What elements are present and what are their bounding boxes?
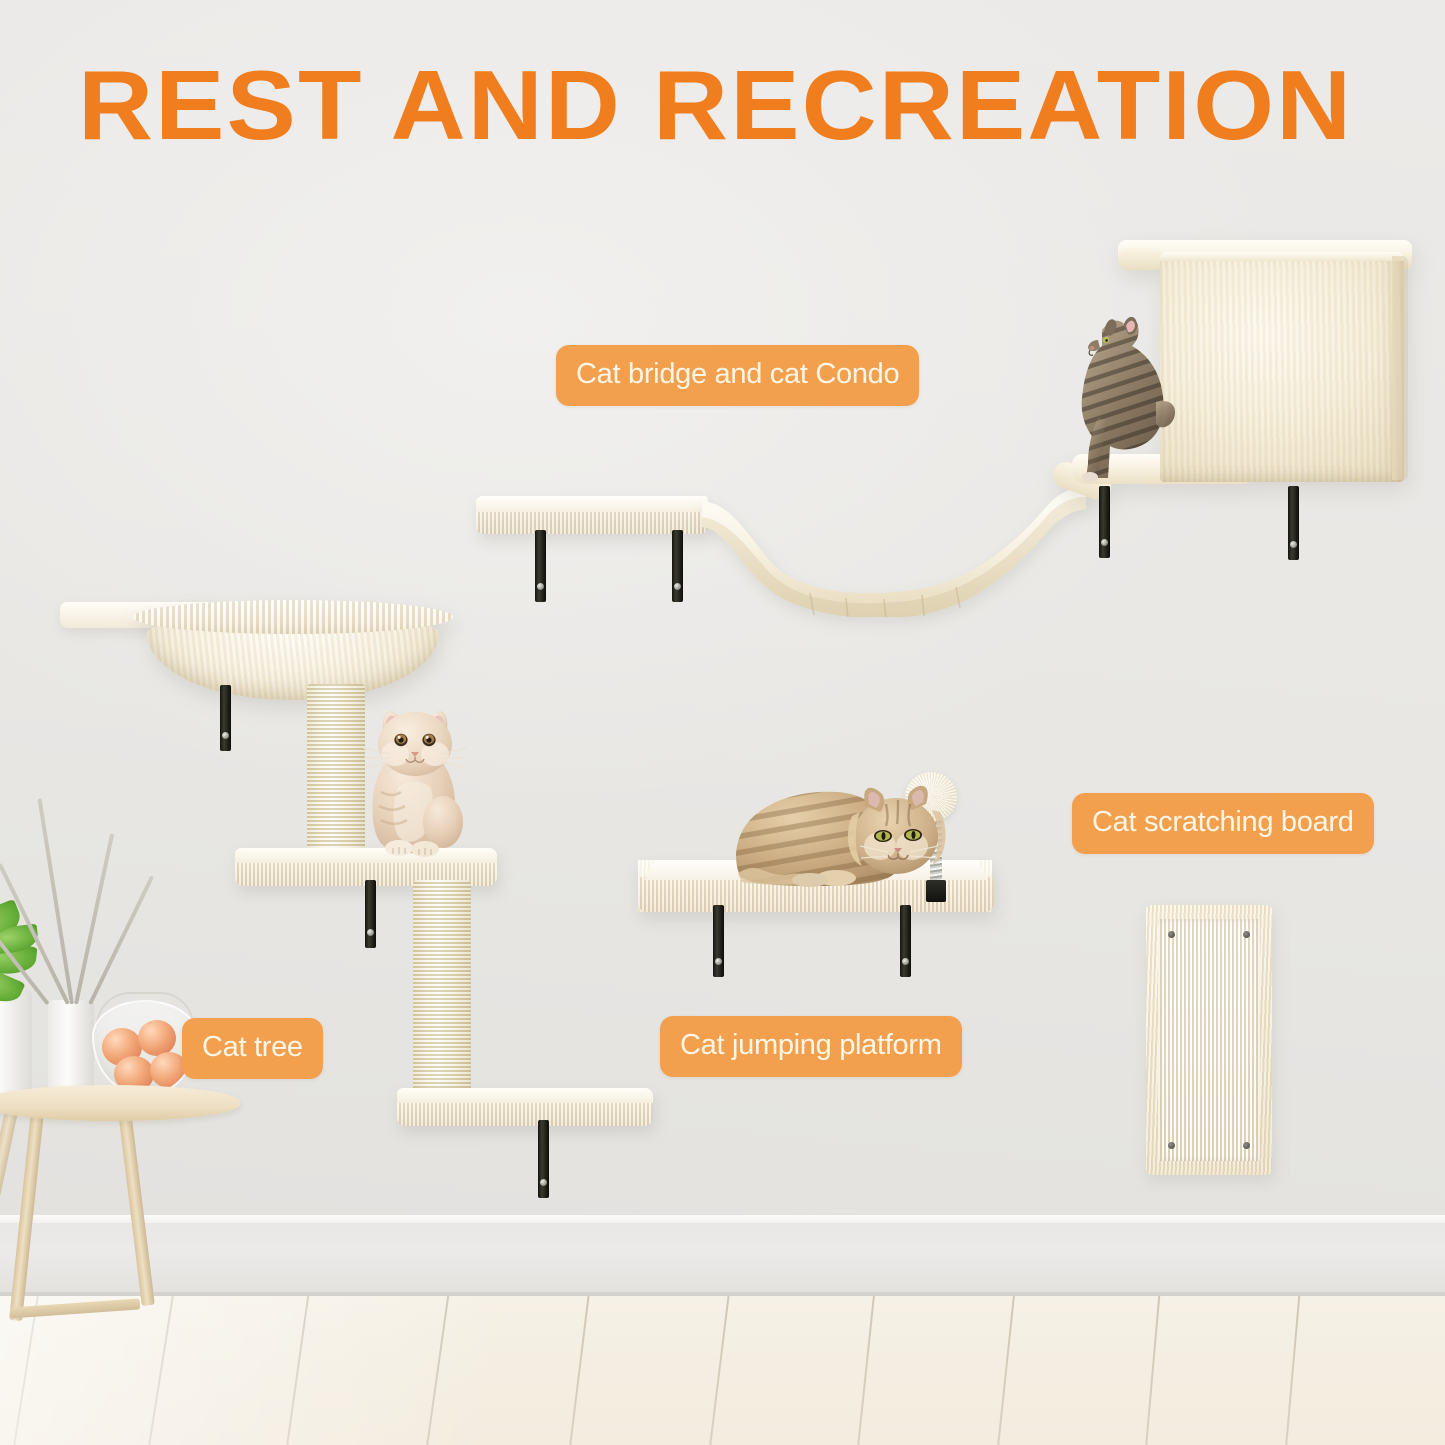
table-stretcher (10, 1298, 140, 1318)
fluffy-tabby-lounging (720, 772, 960, 902)
cat-tree-bottom-shelf-top (397, 1088, 653, 1103)
wall-bracket (1288, 486, 1299, 560)
label-cat-scratching-board: Cat scratching board (1072, 793, 1374, 854)
product-infographic: REST AND RECREATION Cat bridge and cat C… (0, 0, 1445, 1445)
cat-tree-bottom-shelf (397, 1088, 653, 1126)
basket-gathered-rim (133, 600, 453, 634)
page-title: REST AND RECREATION (78, 56, 1445, 154)
table-leg (0, 1111, 17, 1270)
tabby-cat-climbing (1058, 306, 1188, 486)
wall-bracket (220, 685, 231, 751)
peach (138, 1020, 176, 1056)
cat-bridge-shelf (476, 496, 708, 534)
cat-condo-box (1160, 252, 1404, 482)
wall-bracket (900, 905, 911, 977)
cat-tree-sisal-post-lower (413, 880, 471, 1098)
cat-tree-plush-basket (133, 592, 453, 702)
white-vase-with-branches (48, 1000, 94, 1098)
wall-bracket (365, 880, 376, 948)
mounting-screw (1168, 1142, 1175, 1149)
floor-plank (1281, 1296, 1302, 1445)
cat-bridge-shelf-top (476, 496, 708, 512)
mounting-screw (1168, 931, 1175, 938)
floor-plank (703, 1296, 732, 1445)
mounting-screw (1243, 931, 1250, 938)
floor-plank (279, 1296, 312, 1445)
wall-bracket (713, 905, 724, 977)
wall-bracket (538, 1120, 549, 1198)
floor-plank (992, 1296, 1017, 1445)
cat-condo-left-lip (1118, 248, 1164, 270)
label-cat-jumping-platform: Cat jumping platform (660, 1016, 962, 1077)
label-cat-bridge-and-condo: Cat bridge and cat Condo (556, 345, 919, 406)
cream-kitten-sitting (355, 700, 475, 865)
cat-bridge-hammock (698, 487, 1088, 617)
cat-tree-bottom-shelf-edge (397, 1101, 653, 1126)
floor-plank (1141, 1296, 1162, 1445)
floor-plank (419, 1296, 452, 1445)
table-top (0, 1085, 240, 1121)
scratching-board-sisal-surface (1158, 919, 1260, 1161)
wall-bracket (1099, 486, 1110, 558)
floor-plank (852, 1296, 877, 1445)
wood-side-table (0, 1085, 244, 1385)
table-leg (9, 1111, 44, 1321)
table-leg (118, 1111, 155, 1306)
label-cat-tree: Cat tree (182, 1018, 323, 1079)
white-vase-with-plant (0, 990, 32, 1098)
cat-scratching-board (1146, 905, 1272, 1175)
floor-plank (563, 1296, 592, 1445)
mounting-screw (1243, 1142, 1250, 1149)
